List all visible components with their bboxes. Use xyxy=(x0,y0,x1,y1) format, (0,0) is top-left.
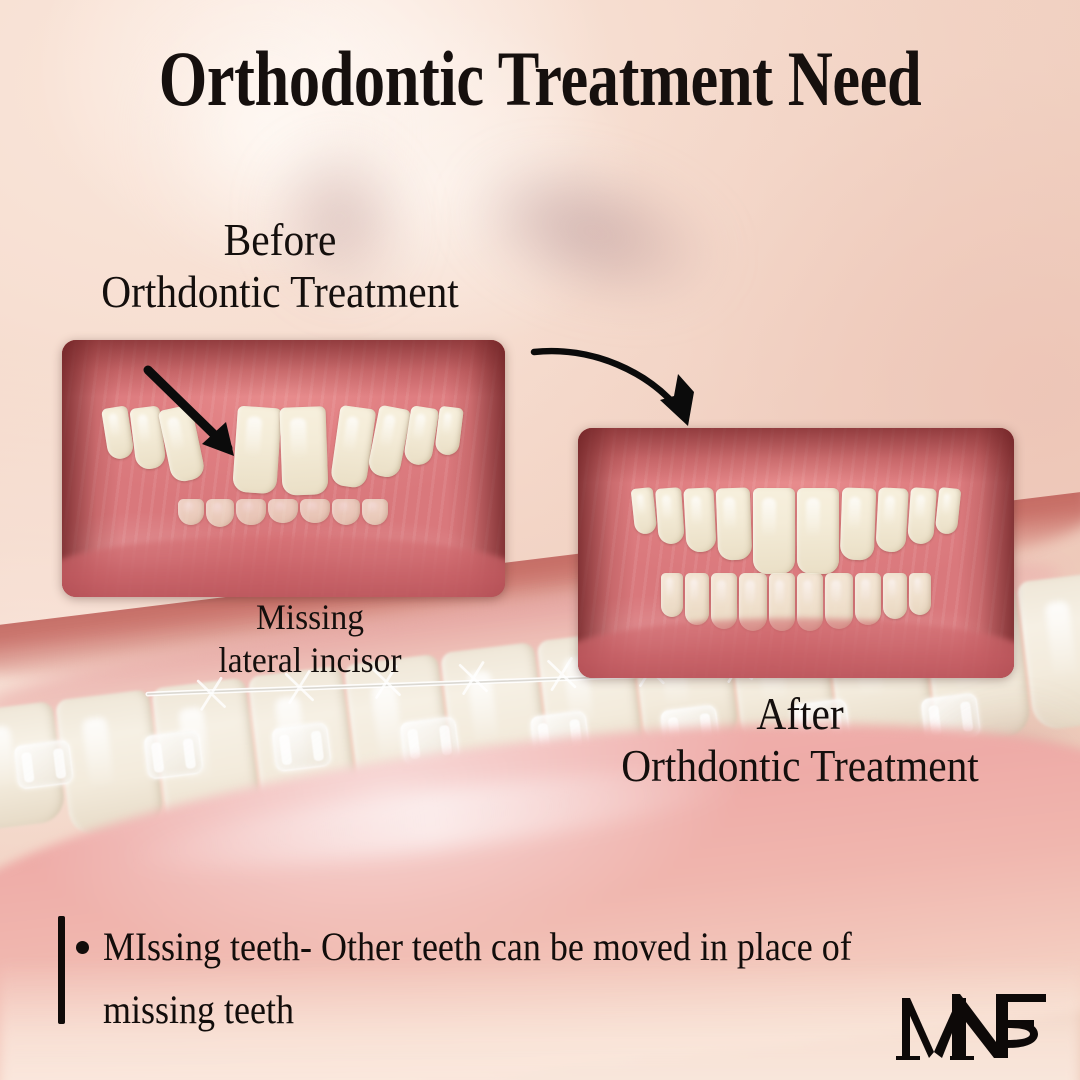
after-label: After Orthdontic Treatment xyxy=(542,688,1057,792)
bullet-accent-bar xyxy=(58,916,65,1024)
mnf-logo[interactable] xyxy=(896,976,1052,1062)
poster-content: Orthodontic Treatment Need Before Orthdo… xyxy=(0,0,1080,1080)
bullet-dot-icon xyxy=(76,941,89,954)
before-label-line2: Orthdontic Treatment xyxy=(22,266,537,318)
missing-caption-line1: Missing xyxy=(256,597,364,637)
missing-tooth-arrow-icon xyxy=(142,364,272,464)
before-label-line1: Before xyxy=(22,214,537,266)
before-label: Before Orthdontic Treatment xyxy=(22,214,537,318)
list-item: MIssing teeth- Other teeth can be moved … xyxy=(103,915,852,1041)
after-photo[interactable] xyxy=(578,428,1014,678)
poster-canvas: Orthodontic Treatment Need Before Orthdo… xyxy=(0,0,1080,1080)
after-label-line2: Orthdontic Treatment xyxy=(542,740,1057,792)
page-title: Orthodontic Treatment Need xyxy=(108,38,972,121)
after-label-line1: After xyxy=(542,688,1057,740)
after-intraoral-image xyxy=(578,428,1014,678)
before-photo[interactable] xyxy=(62,340,505,597)
bullet-list: MIssing teeth- Other teeth can be moved … xyxy=(76,915,1036,1041)
missing-caption-line2: lateral incisor xyxy=(218,640,401,680)
before-intraoral-image xyxy=(62,340,505,597)
before-after-curved-arrow-icon xyxy=(528,330,728,440)
missing-tooth-caption: Missing lateral incisor xyxy=(124,596,496,682)
